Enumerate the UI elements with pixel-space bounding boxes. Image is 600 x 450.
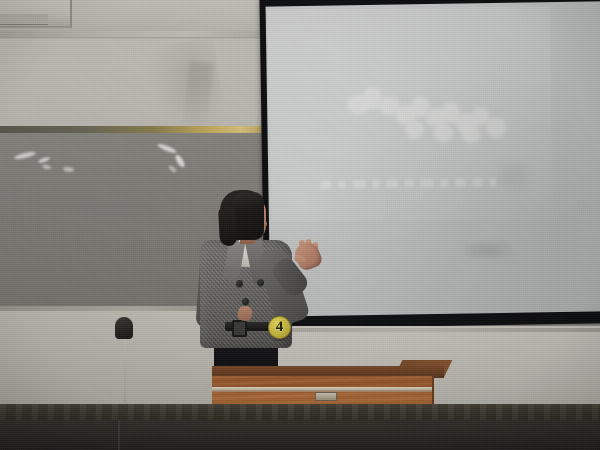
belt-buckle-icon — [232, 320, 247, 337]
coat-button — [242, 298, 249, 305]
baseboard — [0, 404, 600, 420]
floor — [0, 420, 600, 450]
presenter-number-badge: 4 — [268, 316, 291, 339]
presenter-hair-side — [218, 206, 237, 247]
podium-plaque — [315, 392, 337, 401]
lecture-photo: 4 — [0, 0, 600, 450]
presenter-hair-fringe — [232, 192, 264, 210]
coat-button — [236, 280, 243, 287]
floor-seam — [118, 420, 120, 450]
